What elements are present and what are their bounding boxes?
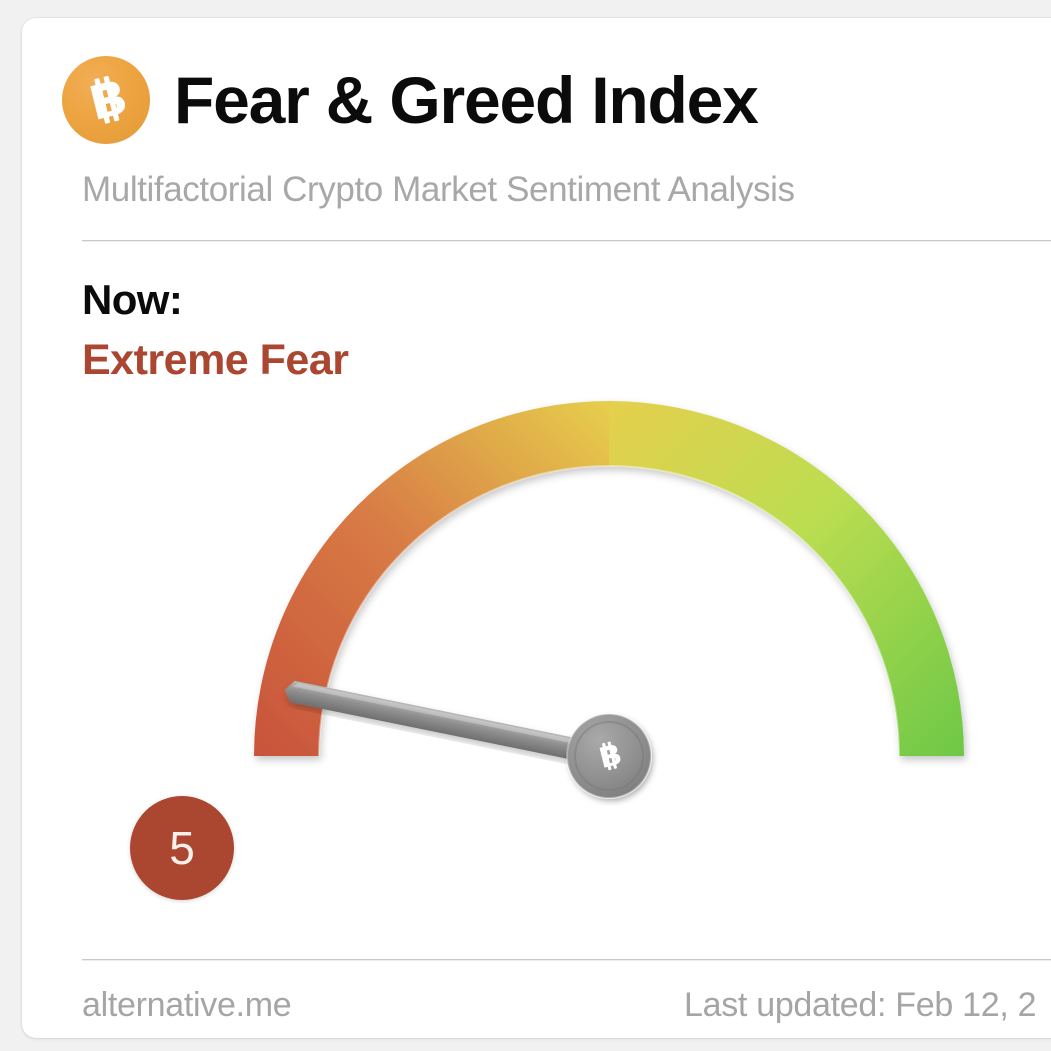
gauge-needle [282,679,611,767]
gauge-svg [172,373,1051,913]
fear-greed-index-card: Fear & Greed Index Multifactorial Crypto… [22,18,1051,1038]
last-updated-label: Last updated: Feb 12, 2 [684,986,1036,1025]
header-divider [82,240,1051,242]
brand-row: Fear & Greed Index [62,56,758,144]
page-subtitle: Multifactorial Crypto Market Sentiment A… [82,170,795,210]
gauge-value-text: 5 [169,825,195,871]
now-label: Now: [82,276,182,324]
source-link[interactable]: alternative.me [82,986,291,1025]
page-title: Fear & Greed Index [174,67,758,133]
gauge-value-badge: 5 [130,796,234,900]
bitcoin-icon [62,56,150,144]
footer-divider [82,959,1051,961]
